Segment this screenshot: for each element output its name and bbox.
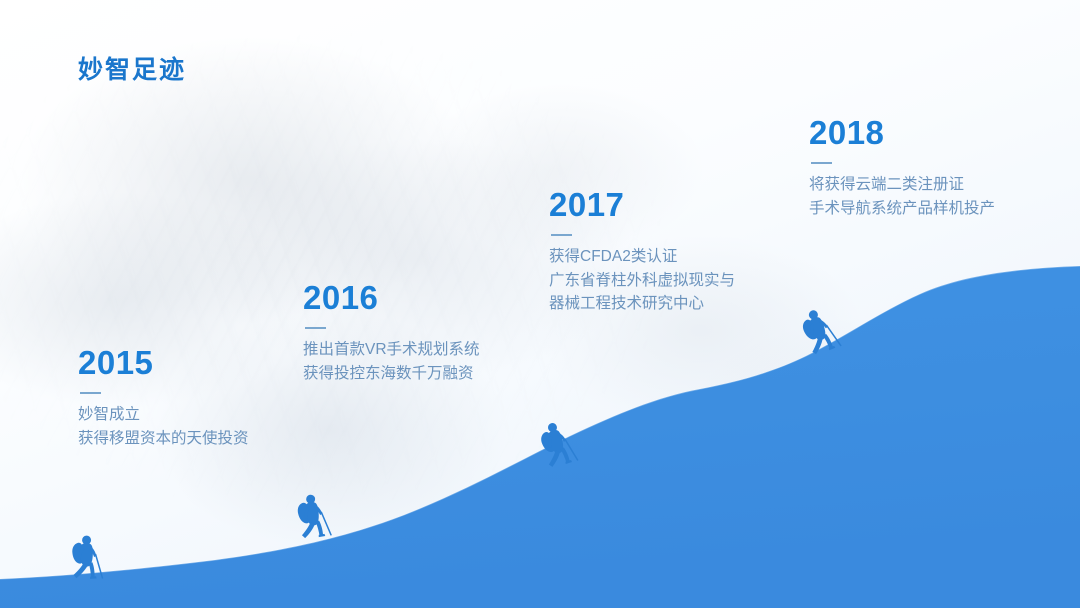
milestone-line: 手术导航系统产品样机投产	[809, 197, 995, 221]
milestone-line: 器械工程技术研究中心	[549, 292, 735, 316]
milestone-divider-2017	[551, 234, 572, 236]
milestone-year-2015: 2015	[78, 346, 249, 379]
milestone-description-2016: 推出首款VR手术规划系统 获得投控东海数千万融资	[303, 338, 480, 385]
milestone-line: 妙智成立	[78, 403, 249, 427]
milestone-line: 广东省脊柱外科虚拟现实与	[549, 269, 735, 293]
mountain-scene	[0, 0, 1080, 608]
milestone-2016[interactable]: 2016 推出首款VR手术规划系统 获得投控东海数千万融资	[303, 281, 480, 385]
milestone-2018[interactable]: 2018 将获得云端二类注册证 手术导航系统产品样机投产	[809, 116, 995, 220]
page-title: 妙智足迹	[78, 50, 186, 86]
milestone-description-2017: 获得CFDA2类认证 广东省脊柱外科虚拟现实与 器械工程技术研究中心	[549, 245, 735, 316]
milestone-divider-2016	[305, 327, 326, 329]
milestone-year-2017: 2017	[549, 188, 735, 221]
milestone-2015[interactable]: 2015 妙智成立 获得移盟资本的天使投资	[78, 346, 249, 450]
milestone-line: 推出首款VR手术规划系统	[303, 338, 480, 362]
milestone-line: 获得CFDA2类认证	[549, 245, 735, 269]
milestone-divider-2018	[811, 162, 832, 164]
milestone-line: 将获得云端二类注册证	[809, 173, 995, 197]
timeline-slide: 妙智足迹 2015 妙智成立 获得移盟资本的天使投资 2016 推出首款VR手术…	[0, 0, 1080, 608]
milestone-description-2018: 将获得云端二类注册证 手术导航系统产品样机投产	[809, 173, 995, 220]
milestone-year-2018: 2018	[809, 116, 995, 149]
milestone-line: 获得投控东海数千万融资	[303, 362, 480, 386]
milestone-line: 获得移盟资本的天使投资	[78, 427, 249, 451]
milestone-description-2015: 妙智成立 获得移盟资本的天使投资	[78, 403, 249, 450]
milestone-divider-2015	[80, 392, 101, 394]
milestone-year-2016: 2016	[303, 281, 480, 314]
climber-icon-2016	[295, 492, 331, 540]
milestone-2017[interactable]: 2017 获得CFDA2类认证 广东省脊柱外科虚拟现实与 器械工程技术研究中心	[549, 188, 735, 316]
